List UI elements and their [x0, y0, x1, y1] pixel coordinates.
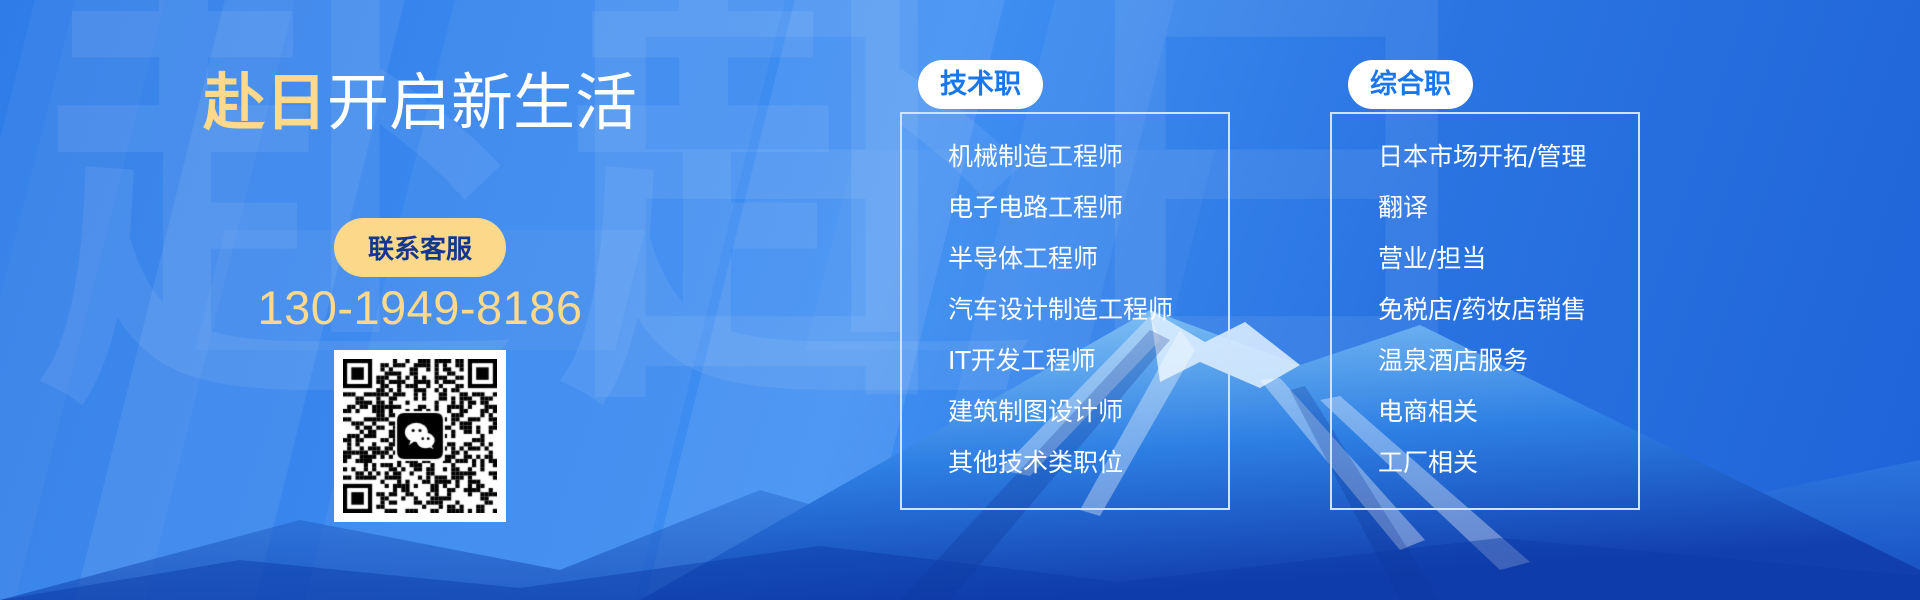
- list-item[interactable]: 翻译: [1378, 195, 1586, 220]
- left-content: 赴日开启新生活 联系客服 130-1949-8186: [0, 0, 840, 600]
- headline-accent: 赴日: [203, 66, 327, 139]
- job-list-general: 日本市场开拓/管理 翻译 营业/担当 免税店/药妆店销售 温泉酒店服务 电商相关…: [1378, 144, 1586, 501]
- job-column-technical-badge: 技术职: [918, 60, 1043, 109]
- page-title: 赴日开启新生活: [0, 52, 840, 142]
- job-list-technical: 机械制造工程师 电子电路工程师 半导体工程师 汽车设计制造工程师 IT开发工程师…: [948, 144, 1173, 501]
- list-item[interactable]: 其他技术类职位: [948, 450, 1173, 475]
- list-item[interactable]: 机械制造工程师: [948, 144, 1173, 169]
- phone-number: 130-1949-8186: [0, 280, 840, 335]
- list-item[interactable]: 日本市场开拓/管理: [1378, 144, 1586, 169]
- list-item[interactable]: 半导体工程师: [948, 246, 1173, 271]
- list-item[interactable]: 电子电路工程师: [948, 195, 1173, 220]
- list-item[interactable]: 营业/担当: [1378, 246, 1586, 271]
- headline-main: 开启新生活: [327, 66, 637, 139]
- job-column-general: 综合职 日本市场开拓/管理 翻译 营业/担当 免税店/药妆店销售 温泉酒店服务 …: [1330, 60, 1640, 510]
- promo-banner: 赴日 赴日: [0, 0, 1920, 600]
- job-column-technical: 技术职 机械制造工程师 电子电路工程师 半导体工程师 汽车设计制造工程师 IT开…: [900, 60, 1230, 510]
- wechat-qr-code[interactable]: [334, 350, 506, 522]
- list-item[interactable]: IT开发工程师: [948, 348, 1173, 373]
- list-item[interactable]: 电商相关: [1378, 399, 1586, 424]
- list-item[interactable]: 温泉酒店服务: [1378, 348, 1586, 373]
- contact-support-button[interactable]: 联系客服: [334, 218, 506, 277]
- qr-canvas: [343, 359, 497, 513]
- list-item[interactable]: 建筑制图设计师: [948, 399, 1173, 424]
- job-column-general-badge: 综合职: [1348, 60, 1473, 109]
- list-item[interactable]: 免税店/药妆店销售: [1378, 297, 1586, 322]
- list-item[interactable]: 工厂相关: [1378, 450, 1586, 475]
- list-item[interactable]: 汽车设计制造工程师: [948, 297, 1173, 322]
